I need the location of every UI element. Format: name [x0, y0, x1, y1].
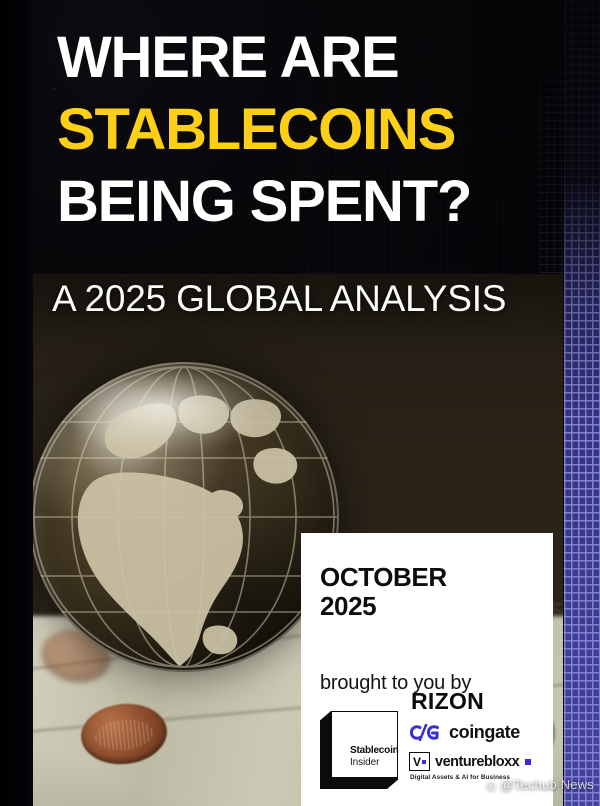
stablecoin-insider-line-2: Insider	[350, 757, 379, 768]
brand-stack: RIZON coingate V	[409, 688, 553, 781]
venturebloxx-mark-letter: V	[413, 756, 421, 768]
cube-front-face: Stablecoin Insider	[331, 711, 398, 778]
digital-matrix-edge-strip	[564, 0, 600, 806]
cg-monogram-icon	[409, 723, 440, 742]
subtitle: A 2025 GLOBAL ANALYSIS	[52, 278, 506, 320]
headline-line-1: WHERE ARE	[57, 22, 537, 94]
venturebloxx-logo[interactable]: V venturebloxx Digital Assets & AI for B…	[409, 752, 553, 781]
stablecoin-insider-line-1: Stablecoin	[350, 745, 399, 756]
venturebloxx-row: V venturebloxx	[409, 752, 553, 771]
stablecoin-report-poster: WHERE ARE STABLECOINS BEING SPENT? 51555…	[0, 0, 600, 806]
rizon-logo[interactable]: RIZON	[411, 688, 553, 715]
coingate-wordmark: coingate	[449, 722, 520, 743]
globe-rim	[33, 362, 339, 672]
card-month: OCTOBER	[320, 563, 553, 592]
headline-block: WHERE ARE STABLECOINS BEING SPENT?	[57, 22, 537, 238]
card-year: 2025	[320, 592, 553, 621]
venturebloxx-wordmark: venturebloxx	[435, 754, 519, 770]
glass-globe	[33, 362, 339, 672]
stablecoin-insider-logo[interactable]: Stablecoin Insider	[320, 711, 398, 789]
left-dark-band	[0, 0, 33, 806]
venturebloxx-mark-icon: V	[409, 752, 430, 771]
venturebloxx-accent-square	[525, 759, 531, 765]
headline-line-3: BEING SPENT?	[57, 166, 537, 238]
venturebloxx-tagline: Digital Assets & AI for Business	[410, 774, 553, 781]
info-card: OCTOBER 2025 brought to you by Stablecoi…	[301, 533, 553, 806]
coingate-logo[interactable]: coingate	[409, 722, 553, 743]
partner-logos: Stablecoin Insider RIZON coingate	[301, 688, 553, 806]
headline-line-2-accent: STABLECOINS	[57, 94, 537, 166]
venturebloxx-mark-dot	[422, 760, 426, 764]
